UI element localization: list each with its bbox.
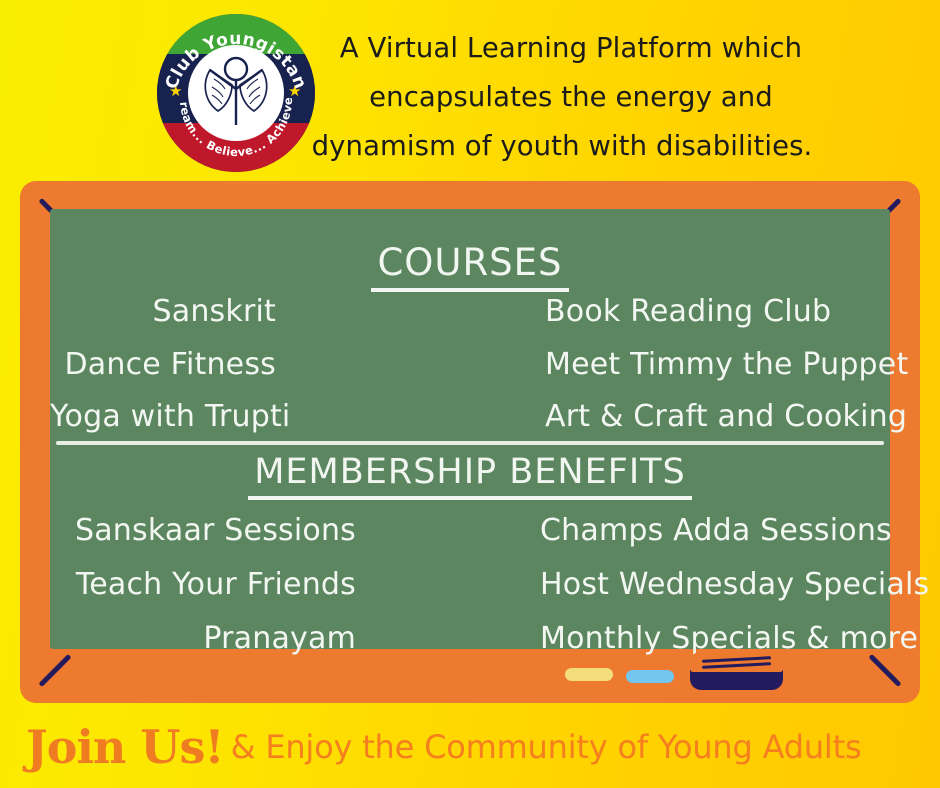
section-divider (56, 441, 884, 445)
benefit-item-right-2: Host Wednesday Specials (540, 567, 910, 602)
join-us-cta[interactable]: Join Us! (26, 724, 224, 770)
course-item-right-3: Art & Craft and Cooking (545, 399, 890, 434)
logo-badge: ★ ★ (157, 14, 315, 172)
corner-bracket-bottom-left (36, 651, 74, 689)
club-youngistan-logo: ★ ★ Club Youngistan Dream... Believe... … (152, 14, 320, 172)
benefits-heading-text: MEMBERSHIP BENEFITS (248, 452, 692, 500)
benefit-item-left-1: Sanskaar Sessions (50, 513, 356, 548)
tagline-line-1: A Virtual Learning Platform which (326, 24, 816, 73)
courses-heading: COURSES (50, 241, 890, 292)
benefits-heading: MEMBERSHIP BENEFITS (50, 452, 890, 500)
footer-subtext: & Enjoy the Community of Young Adults (231, 729, 862, 765)
benefit-item-left-2: Teach Your Friends (50, 567, 356, 602)
eraser-stripe-1 (702, 656, 771, 662)
chalkboard-surface: COURSES Sanskrit Dance Fitness Yoga with… (50, 209, 890, 649)
corner-bracket-bottom-right (866, 651, 904, 689)
benefit-item-right-1: Champs Adda Sessions (540, 513, 910, 548)
poster-root: ★ ★ Club Youngistan Dream... Believe... … (0, 0, 940, 788)
course-item-right-1: Book Reading Club (545, 294, 890, 329)
courses-heading-text: COURSES (371, 241, 568, 292)
board-eraser (690, 652, 783, 690)
chalk-stick-yellow (565, 668, 613, 681)
tagline-line-3: dynamism of youth with disabilities. (308, 122, 816, 171)
winged-figure-icon (188, 45, 284, 141)
course-item-left-1: Sanskrit (50, 294, 276, 329)
eraser-top (690, 652, 783, 672)
logo-star-left: ★ (169, 84, 182, 99)
chalk-stick-blue (626, 670, 674, 683)
course-item-left-2: Dance Fitness (50, 347, 276, 382)
eraser-stripe-2 (702, 662, 771, 668)
chalkboard-frame: COURSES Sanskrit Dance Fitness Yoga with… (20, 181, 920, 703)
benefit-item-left-3: Pranayam (50, 621, 356, 656)
benefit-item-right-3: Monthly Specials & more (540, 621, 910, 656)
tagline-line-2: encapsulates the energy and (326, 73, 816, 122)
header: ★ ★ Club Youngistan Dream... Believe... … (0, 0, 940, 178)
tagline: A Virtual Learning Platform which encaps… (326, 24, 816, 171)
course-item-left-3: Yoga with Trupti (50, 399, 276, 434)
footer-banner: Join Us! & Enjoy the Community of Young … (0, 705, 940, 788)
course-item-right-2: Meet Timmy the Puppet (545, 347, 890, 382)
logo-star-right: ★ (288, 84, 301, 99)
